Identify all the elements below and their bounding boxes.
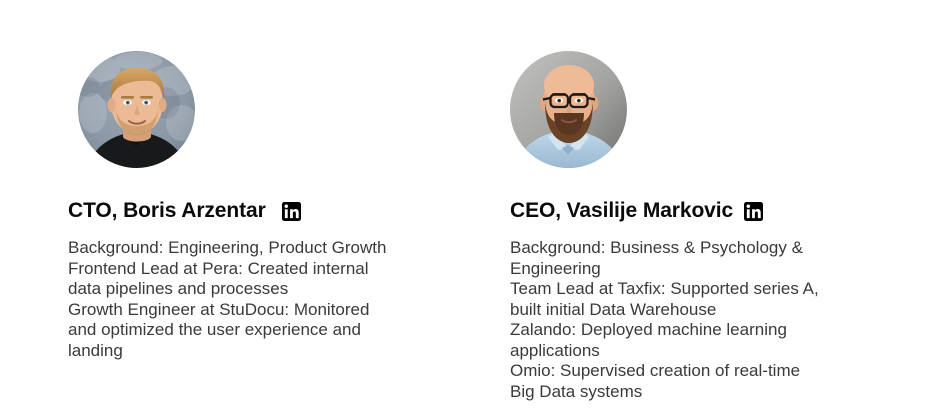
profile-card-ceo: CEO, Vasilije Markovic Background: Busin…	[510, 0, 930, 402]
bio-line: landing	[68, 341, 413, 362]
bio-line: Background: Engineering, Product Growth	[68, 238, 413, 259]
bio-line: Omio: Supervised creation of real-time	[510, 361, 855, 382]
bio-line: Frontend Lead at Pera: Created internal	[68, 259, 413, 280]
profile-bio-cto: Background: Engineering, Product Growth …	[68, 238, 413, 361]
bio-line: applications	[510, 341, 855, 362]
bio-line: Zalando: Deployed machine learning	[510, 320, 855, 341]
bio-line: and optimized the user experience and	[68, 320, 413, 341]
linkedin-icon[interactable]	[744, 202, 763, 221]
profile-card-cto: CTO, Boris Arzentar Background: Engineer…	[68, 0, 488, 361]
avatar-vasilije-markovic	[510, 51, 627, 168]
avatar-boris-arzentar	[78, 51, 195, 168]
bio-line: Engineering	[510, 259, 855, 280]
page-title-cto: CTO, Boris Arzentar	[68, 198, 266, 224]
profile-bio-ceo: Background: Business & Psychology & Engi…	[510, 238, 855, 402]
page-title-ceo: CEO, Vasilije Markovic	[510, 198, 733, 224]
profile-name-row: CTO, Boris Arzentar	[68, 198, 488, 224]
bio-line: data pipelines and processes	[68, 279, 413, 300]
bio-line: Big Data systems	[510, 382, 855, 403]
bio-line: built initial Data Warehouse	[510, 300, 855, 321]
team-profiles-section: CTO, Boris Arzentar Background: Engineer…	[0, 0, 948, 412]
bio-line: Team Lead at Taxfix: Supported series A,	[510, 279, 855, 300]
linkedin-icon[interactable]	[282, 202, 301, 221]
bio-line: Growth Engineer at StuDocu: Monitored	[68, 300, 413, 321]
bio-line: Background: Business & Psychology &	[510, 238, 855, 259]
profile-name-row: CEO, Vasilije Markovic	[510, 198, 930, 224]
